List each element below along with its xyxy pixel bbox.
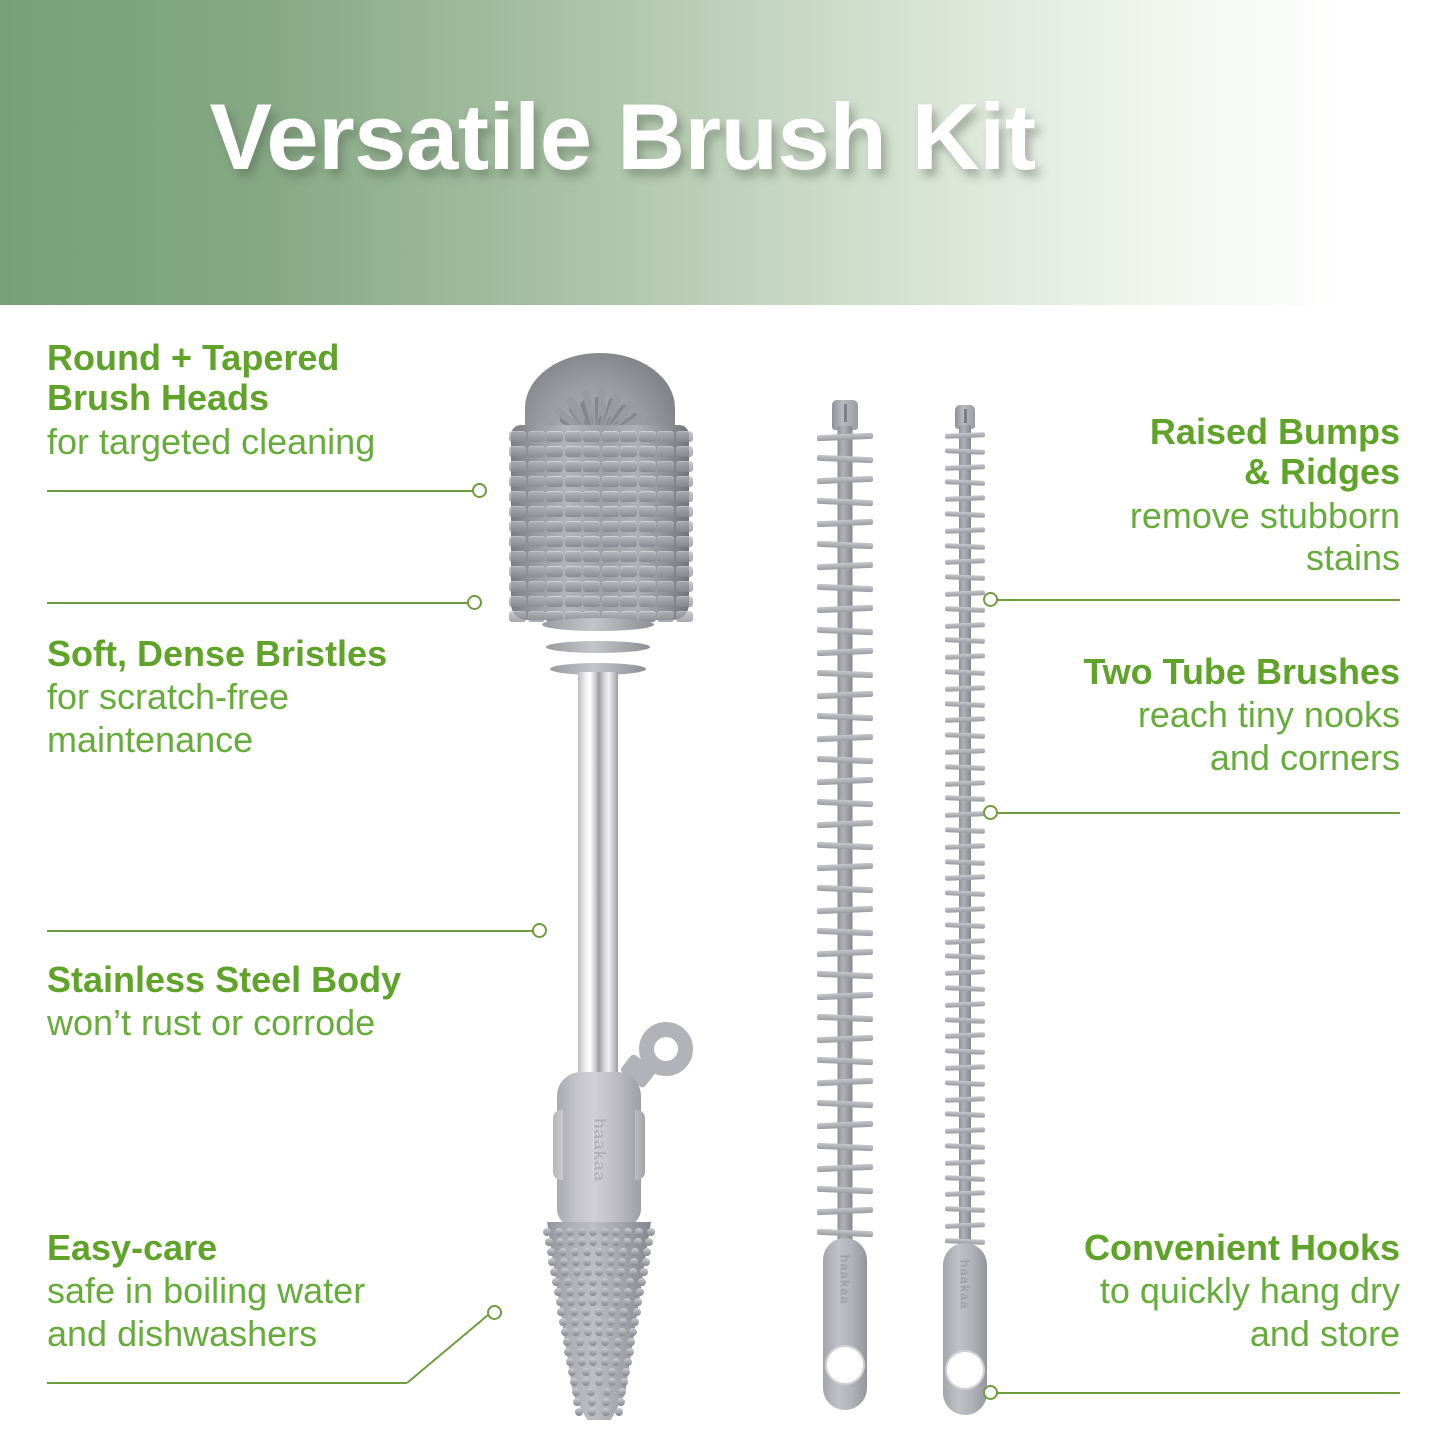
brush-bristle — [578, 1298, 586, 1306]
brush-bristle — [657, 431, 674, 442]
tube-brush-ridge — [945, 922, 985, 928]
brush-bristle — [598, 412, 640, 447]
brush-bristle — [583, 491, 600, 502]
tube-brush-ridge — [945, 859, 985, 865]
brush-bristle — [577, 1288, 585, 1296]
brush-bristle — [558, 415, 602, 448]
brush-bristle — [583, 611, 600, 622]
callout-subtitle: safe in boiling water and dishwashers — [47, 1270, 497, 1355]
brush-bristle — [509, 536, 526, 547]
brush-bristle — [554, 1288, 562, 1296]
tube-brush-ridge — [945, 875, 985, 881]
brush-bristle — [547, 1248, 555, 1256]
tube-brush-ridge — [945, 701, 985, 707]
brush-bristle — [602, 581, 619, 592]
tube-brush-ridge — [817, 433, 873, 441]
brand-emboss: haakaa — [838, 1254, 853, 1304]
brush-bristle — [599, 424, 646, 447]
brush-bristle — [589, 1278, 597, 1286]
brush-bristle — [601, 1228, 609, 1236]
brush-bristle — [622, 1368, 630, 1376]
cone-body — [540, 1222, 658, 1422]
tube-brush-ridge — [945, 843, 985, 849]
brush-bristle — [657, 611, 674, 622]
brush-bristle — [639, 431, 656, 442]
tube-brush-ridge — [945, 1143, 985, 1149]
brush-bristle — [589, 1238, 597, 1246]
tube-brush-ridge — [945, 685, 985, 691]
tube-brush-ridge — [817, 1142, 873, 1150]
hanging-loop-ring — [639, 1022, 693, 1076]
brush-bristle — [676, 611, 693, 622]
callout-two-tube-brushes: Two Tube Brushes reach tiny nooks and co… — [990, 652, 1400, 779]
brush-bristle — [565, 596, 582, 607]
brush-bristle — [596, 415, 608, 446]
brush-bristle — [528, 431, 545, 442]
brush-bristle — [620, 536, 637, 547]
callout-title: Convenient Hooks — [990, 1228, 1400, 1268]
callout-title: Easy-care — [47, 1228, 497, 1268]
brush-bristle — [563, 1338, 571, 1346]
brush-bristle — [568, 405, 603, 447]
tube-brush-ridge — [817, 691, 873, 699]
brush-bristle — [565, 566, 582, 577]
brush-bristle — [509, 491, 526, 502]
callout-soft-dense-bristles: Soft, Dense Bristles for scratch-free ma… — [47, 634, 477, 761]
tube-brush-ridge — [817, 1013, 873, 1021]
brush-bristle — [639, 566, 656, 577]
brush-bristle — [595, 1268, 603, 1276]
brush-bristle — [565, 476, 582, 487]
brush-bristle — [573, 1398, 581, 1406]
brush-bristle — [588, 1408, 596, 1416]
leader-dot-two-tube — [983, 805, 998, 820]
brush-bristle — [657, 596, 674, 607]
brush-bristle — [603, 1388, 611, 1396]
tube-brush-ridge — [945, 559, 985, 565]
tube-brush-ridge — [817, 626, 873, 634]
brush-bristle — [528, 551, 545, 562]
brush-bristle — [612, 1228, 620, 1236]
brush-bristle — [601, 1298, 609, 1306]
brush-bristle — [620, 461, 637, 472]
brush-bristle — [657, 551, 674, 562]
brush-bristle — [589, 1288, 597, 1296]
tube-brush-ridge — [945, 796, 985, 802]
brush-bristle — [577, 1278, 585, 1286]
brush-bristle — [607, 1258, 615, 1266]
tube-brush-ridge — [945, 890, 985, 896]
brush-bristle — [676, 521, 693, 532]
brush-bristle — [634, 1238, 642, 1246]
brush-bristle — [581, 408, 604, 446]
collar-disc — [542, 618, 654, 631]
brush-bristle — [589, 1358, 597, 1366]
brush-bristle — [629, 1328, 637, 1336]
brush-bristle — [546, 476, 563, 487]
tube-brush-ridge — [817, 906, 873, 914]
brush-bristle — [620, 1308, 628, 1316]
tube-brush-ridge — [945, 495, 985, 501]
tube-brush-ridge — [817, 605, 873, 613]
brush-bristle — [601, 1358, 609, 1366]
brush-bristle — [528, 476, 545, 487]
brush-bristle — [570, 437, 601, 448]
callout-round-tapered-brush-heads: Round + Tapered Brush Heads for targeted… — [47, 338, 477, 463]
brush-bristle — [546, 446, 563, 457]
tube-brush-ridge — [945, 811, 985, 817]
brush-bristle — [624, 1228, 632, 1236]
tube-brush-ridge — [817, 970, 873, 978]
brush-bristle — [613, 1288, 621, 1296]
brush-bristle — [528, 446, 545, 457]
brush-bristle — [676, 596, 693, 607]
brush-bristle — [624, 1288, 632, 1296]
brush-bristle — [572, 1328, 580, 1336]
ridged-shaft — [838, 426, 853, 1256]
brush-bristle — [620, 581, 637, 592]
brush-bristle — [612, 1298, 620, 1306]
hook-paddle: haakaa — [823, 1238, 867, 1410]
brush-bristle — [583, 506, 600, 517]
brush-bristle — [618, 1388, 626, 1396]
tube-brush-ridge — [817, 820, 873, 828]
brush-bristle — [575, 1408, 583, 1416]
tube-brush-ridge — [945, 543, 985, 549]
tube-brush-ridge — [945, 1206, 985, 1212]
callout-subtitle: for scratch-free maintenance — [47, 676, 477, 761]
brush-bristle — [559, 1318, 567, 1326]
brush-bristle — [612, 1358, 620, 1366]
brush-bristle — [509, 461, 526, 472]
tube-brush-ridge — [817, 497, 873, 505]
tube-brush-ridge — [817, 540, 873, 548]
brush-bristle — [565, 396, 604, 448]
brush-bristle — [623, 1238, 631, 1246]
brush-bristle — [572, 1388, 580, 1396]
brush-bristle — [600, 436, 640, 448]
brush-bristle — [657, 461, 674, 472]
brush-bristle — [565, 521, 582, 532]
brush-bristle — [561, 1328, 569, 1336]
brush-bristle — [601, 1348, 609, 1356]
tube-brush-ridge — [817, 992, 873, 1000]
silicone-handle: haakaa — [557, 1072, 641, 1227]
brush-bristle — [613, 1278, 621, 1286]
brush-bristle — [546, 521, 563, 532]
callout-easy-care: Easy-care safe in boiling water and dish… — [47, 1228, 497, 1355]
brush-bristle — [602, 1398, 610, 1406]
brush-bristle — [591, 414, 604, 445]
brush-bristle — [583, 446, 600, 457]
brush-bristle — [528, 581, 545, 592]
brush-bristle — [600, 441, 631, 451]
tube-brush-ridge — [817, 1185, 873, 1193]
brush-bristle — [676, 506, 693, 517]
brush-bristle — [631, 1248, 639, 1256]
tube-brush-ridge — [817, 1207, 873, 1215]
tube-brush-ridge — [945, 1159, 985, 1165]
brush-bristle — [528, 491, 545, 502]
brush-bristle — [599, 435, 630, 448]
brush-bristle — [676, 461, 693, 472]
tube-brush-ridge — [945, 827, 985, 833]
collar-disc — [550, 663, 646, 675]
brush-bristle — [606, 1268, 614, 1276]
brush-bristle — [543, 438, 600, 450]
tube-brush-ridge — [817, 1121, 873, 1129]
brush-bristle — [546, 536, 563, 547]
brush-bristle — [619, 1318, 627, 1326]
brand-emboss: haakaa — [589, 1118, 609, 1182]
tube-brush-ridge — [945, 653, 985, 659]
brush-bristle — [552, 441, 600, 450]
brush-bristle — [597, 420, 622, 447]
brush-bristle — [602, 506, 619, 517]
brush-bristle — [577, 1348, 585, 1356]
brush-bristle — [633, 1308, 641, 1316]
brush-bristle — [588, 1398, 596, 1406]
leader-dot-stainless — [532, 923, 547, 938]
brush-bristle — [583, 596, 600, 607]
brush-bristle — [602, 551, 619, 562]
brush-bristle — [584, 1268, 592, 1276]
brush-bristle — [553, 428, 602, 450]
brush-bristle — [676, 446, 693, 457]
leader-line-convenient-hooks — [997, 1392, 1400, 1394]
leader-line-round-tapered — [47, 490, 477, 492]
brush-bristle — [570, 441, 601, 455]
callout-raised-bumps-ridges: Raised Bumps & Ridges remove stubborn st… — [990, 412, 1400, 580]
brush-bristle — [597, 397, 638, 446]
brush-bristle — [575, 422, 603, 449]
brand-emboss: haakaa — [958, 1259, 973, 1309]
brush-bristle — [629, 1268, 637, 1276]
brush-bristle — [657, 536, 674, 547]
brush-bristle — [582, 1368, 590, 1376]
brush-bristle — [581, 389, 603, 446]
tube-brush-ridge — [945, 669, 985, 675]
tube-brush-ridge — [817, 841, 873, 849]
brush-bristle — [583, 476, 600, 487]
brush-bristle — [608, 1368, 616, 1376]
brush-bristle — [600, 439, 648, 450]
brush-bristle — [608, 1378, 616, 1386]
callout-title: Round + Tapered Brush Heads — [47, 338, 477, 419]
brush-dome — [525, 353, 675, 463]
brush-bristle — [595, 1248, 603, 1256]
tube-brush-ridge — [817, 519, 873, 527]
brush-bristle — [553, 406, 602, 447]
brush-bristle — [601, 1238, 609, 1246]
brush-bristle — [613, 1348, 621, 1356]
brush-bristle — [639, 536, 656, 547]
brush-bristle — [591, 406, 605, 446]
brush-bristle — [583, 551, 600, 562]
brush-bristle — [657, 566, 674, 577]
tube-brush-ridge — [945, 448, 985, 454]
brush-bristle — [546, 506, 563, 517]
brush-bristle — [559, 1248, 567, 1256]
brush-bristle — [596, 390, 624, 447]
brush-bristle — [583, 461, 600, 472]
brush-bristle — [597, 416, 616, 446]
brush-bristle — [509, 551, 526, 562]
brush-bristle — [602, 476, 619, 487]
brush-bristle — [565, 551, 582, 562]
leader-line-soft-bristles — [47, 602, 472, 604]
tube-brush-ridge — [817, 863, 873, 871]
brush-bristle — [546, 461, 563, 472]
tube-brush-ridge — [817, 1035, 873, 1043]
brush-bristle — [602, 596, 619, 607]
brush-bristle — [617, 1268, 625, 1276]
ridged-shaft — [959, 425, 971, 1260]
tube-brush-ridge — [817, 712, 873, 720]
tube-brush-ridge — [945, 606, 985, 612]
tube-brush-ridge — [945, 527, 985, 533]
brush-bristle — [578, 1238, 586, 1246]
page-title: Versatile Brush Kit — [0, 88, 1445, 187]
brush-bristle — [545, 1238, 553, 1246]
tube-brush-ridge — [945, 969, 985, 975]
tube-brush-ridge — [817, 1164, 873, 1172]
tube-brush-ridge — [945, 511, 985, 517]
tube-brush-ridge — [817, 927, 873, 935]
brush-bristle — [620, 566, 637, 577]
brush-bristle — [565, 461, 582, 472]
brush-bristle — [647, 1228, 655, 1236]
brush-bristle — [550, 1268, 558, 1276]
brush-bristle — [619, 1248, 627, 1256]
brush-bristle — [639, 491, 656, 502]
brush-bristle — [509, 446, 526, 457]
brush-bristle — [565, 611, 582, 622]
brush-bristle — [509, 431, 526, 442]
crown-tip — [955, 405, 975, 429]
brush-bristle — [570, 1308, 578, 1316]
brush-bristle — [528, 461, 545, 472]
brush-bristle — [642, 1258, 650, 1266]
brush-bristle — [600, 441, 657, 450]
brush-bristle — [639, 551, 656, 562]
brush-bristle — [643, 1248, 651, 1256]
stainless-steel-rod — [578, 672, 618, 1072]
tube-brush-ridge — [945, 464, 985, 470]
brush-bristle — [589, 1298, 597, 1306]
brush-bristle — [634, 1298, 642, 1306]
hanging-loop-stem — [619, 1053, 656, 1089]
tube-brush-ridge — [817, 1099, 873, 1107]
brush-bristle — [573, 1268, 581, 1276]
leader-dot-raised-bumps — [983, 592, 998, 607]
tube-brush-ridge — [817, 454, 873, 462]
brush-bristle — [602, 521, 619, 532]
brush-bristle — [595, 1318, 603, 1326]
brush-bristle — [639, 476, 656, 487]
brush-bristle — [565, 581, 582, 592]
brush-bristle — [583, 1318, 591, 1326]
brush-bristle — [657, 521, 674, 532]
brush-bristle — [639, 446, 656, 457]
brush-bristle — [509, 611, 526, 622]
brush-bristle — [552, 1278, 560, 1286]
tube-brush-ridge — [817, 777, 873, 785]
brush-bristle — [548, 1258, 556, 1266]
brush-bristle — [567, 1238, 575, 1246]
hook-paddle: haakaa — [943, 1243, 987, 1415]
tube-brush-ridge — [945, 717, 985, 723]
brush-bristle — [509, 476, 526, 487]
brush-bristle — [546, 596, 563, 607]
brush-bristle — [620, 551, 637, 562]
tube-brush-ridge — [945, 622, 985, 628]
brush-bristle — [639, 596, 656, 607]
brush-bristle — [602, 431, 619, 442]
brush-bristle — [571, 413, 603, 446]
brush-bristle — [645, 1238, 653, 1246]
brush-bristle — [596, 403, 630, 448]
tube-brush-ridge — [817, 583, 873, 591]
brush-bristle — [568, 1368, 576, 1376]
brush-bristle — [528, 506, 545, 517]
brush-bristle — [620, 596, 637, 607]
tube-brush-ridge — [945, 732, 985, 738]
brush-bristle — [582, 417, 603, 447]
tube-brush-large: haakaa — [805, 400, 885, 1410]
tube-brush-ridge — [945, 1017, 985, 1023]
brush-bristle — [546, 581, 563, 592]
brush-bristle — [583, 536, 600, 547]
brush-bristle — [582, 1378, 590, 1386]
brush-bristle — [620, 506, 637, 517]
brush-bristle — [601, 1278, 609, 1286]
brush-bristle — [589, 1348, 597, 1356]
brush-bristle — [676, 551, 693, 562]
tube-brush-ridge — [945, 780, 985, 786]
brush-bristle — [582, 1308, 590, 1316]
tube-brush-ridge — [817, 949, 873, 957]
brush-bristle — [614, 1338, 622, 1346]
brush-bristle — [620, 476, 637, 487]
brush-bristle — [561, 433, 601, 448]
leader-dot-convenient-hooks — [983, 1385, 998, 1400]
brush-bristle — [676, 491, 693, 502]
tube-brush-ridge — [945, 480, 985, 486]
brush-bristle — [602, 1408, 610, 1416]
brush-bristle — [565, 536, 582, 547]
brush-bristle — [620, 431, 637, 442]
brush-bristle — [509, 521, 526, 532]
brush-bristle — [630, 1258, 638, 1266]
brush-bristle — [635, 1228, 643, 1236]
brush-bristle — [620, 521, 637, 532]
tube-brush-ridge — [945, 1001, 985, 1007]
brush-bristle — [578, 1358, 586, 1366]
brush-bristle — [601, 1288, 609, 1296]
brush-bristle — [583, 521, 600, 532]
tube-brush-ridge — [945, 906, 985, 912]
callout-subtitle: remove stubborn stains — [990, 495, 1400, 580]
brush-bristle — [676, 566, 693, 577]
brush-bristle — [640, 1268, 648, 1276]
brush-bristle — [599, 425, 656, 449]
tube-brush-ridge — [817, 562, 873, 570]
callout-subtitle: for targeted cleaning — [47, 421, 477, 463]
brush-bristle — [595, 396, 604, 444]
brush-bristle — [583, 581, 600, 592]
brush-bristle — [570, 1378, 578, 1386]
